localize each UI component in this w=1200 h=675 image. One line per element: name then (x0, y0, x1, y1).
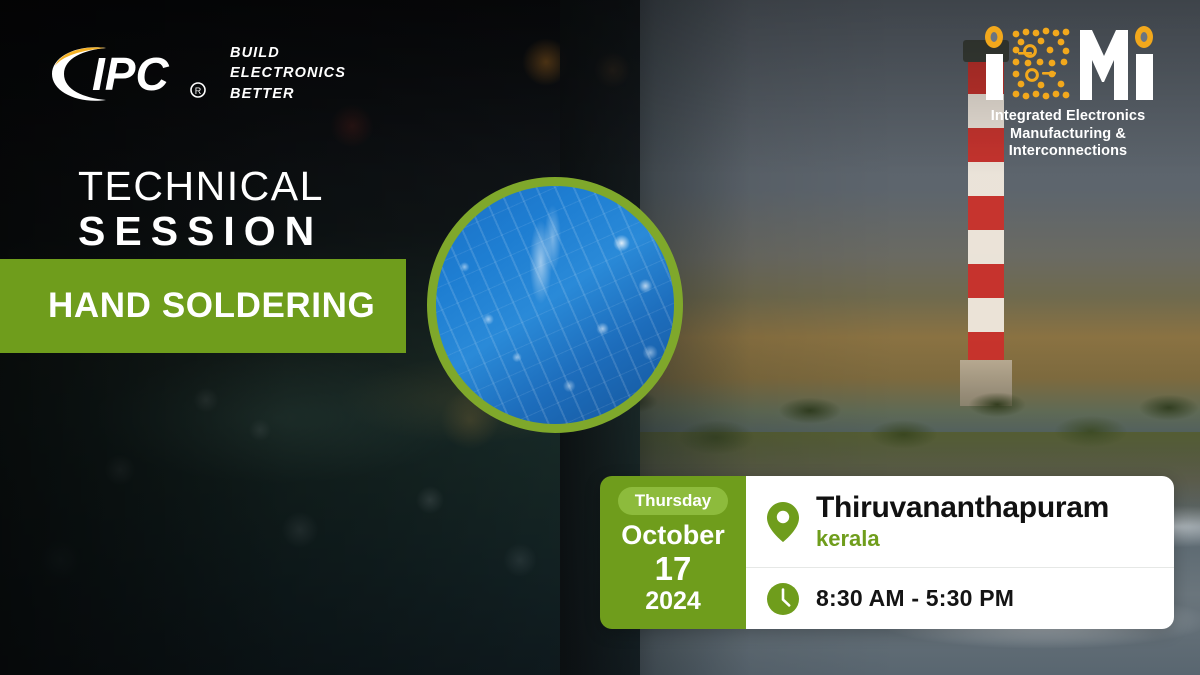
iemi-subtitle-line-3: Interconnections (991, 143, 1146, 161)
event-time-range: 8:30 AM - 5:30 PM (816, 585, 1014, 612)
time-row: 8:30 AM - 5:30 PM (746, 567, 1174, 629)
course-title-band: HAND SOLDERING (0, 259, 406, 353)
venue-text: Thiruvananthapuram kerala (816, 492, 1109, 551)
svg-text:IPC: IPC (92, 48, 169, 100)
ipc-logo: IPC R BUILD ELECTRONICS BETTER (48, 42, 346, 106)
event-details-card: Thursday October 17 2024 Thiruvananthapu… (600, 476, 1174, 629)
iemi-wordmark-icon (980, 24, 1156, 104)
event-month: October (621, 520, 725, 550)
event-year: 2024 (645, 588, 701, 616)
svg-text:R: R (195, 86, 202, 96)
iemi-subtitle-line-2: Manufacturing & (991, 126, 1146, 144)
ipc-wordmark-icon: IPC R (48, 42, 216, 106)
event-day: 17 (655, 551, 692, 587)
session-heading: TECHNICAL SESSION (78, 166, 324, 253)
hero-circle-image (427, 177, 683, 433)
location-pin-icon (766, 501, 800, 543)
venue-region: kerala (816, 526, 1109, 551)
event-info-block: Thiruvananthapuram kerala 8:30 AM - 5:30… (746, 476, 1174, 629)
ipc-tagline-line-2: ELECTRONICS (230, 65, 346, 82)
iemi-subtitle-line-1: Integrated Electronics (991, 108, 1146, 126)
session-heading-line-2: SESSION (78, 210, 324, 253)
iemi-logo: Integrated Electronics Manufacturing & I… (980, 24, 1156, 161)
ipc-tagline: BUILD ELECTRONICS BETTER (230, 45, 346, 102)
clock-icon (766, 582, 800, 616)
day-of-week-badge: Thursday (618, 487, 729, 515)
session-heading-line-1: TECHNICAL (78, 166, 324, 207)
course-title: HAND SOLDERING (0, 286, 375, 326)
pcb-traces (436, 186, 674, 424)
iemi-subtitle: Integrated Electronics Manufacturing & I… (991, 108, 1146, 161)
venue-city: Thiruvananthapuram (816, 492, 1109, 524)
event-promo-banner: IPC R BUILD ELECTRONICS BETTER (0, 0, 1200, 675)
ipc-tagline-line-3: BETTER (230, 86, 346, 103)
ipc-tagline-line-1: BUILD (230, 45, 346, 62)
event-date-block: Thursday October 17 2024 (600, 476, 746, 629)
venue-row: Thiruvananthapuram kerala (746, 476, 1174, 567)
